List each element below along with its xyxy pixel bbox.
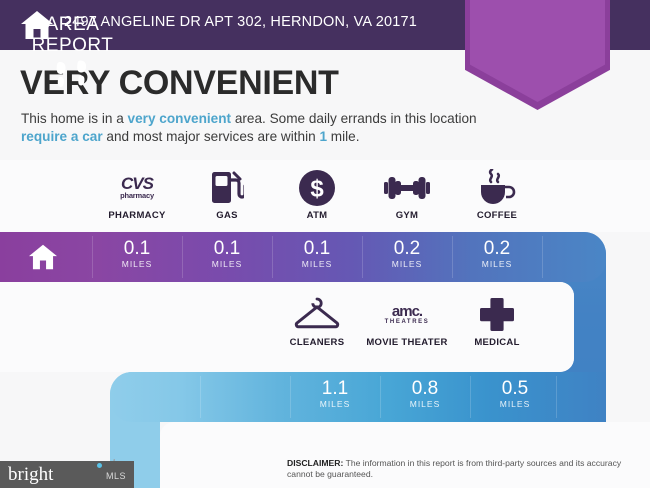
desc-highlight-distance: 1 — [319, 129, 327, 144]
category-gym: GYM — [362, 168, 452, 230]
category-coffee: COFFEE — [452, 168, 542, 230]
cvs-pharmacy-logo: CVS pharmacy — [92, 168, 182, 208]
badge-inner-fill — [470, 0, 605, 102]
description-text: This home is in a very convenient area. … — [21, 110, 481, 146]
category-label: PHARMACY — [92, 210, 182, 221]
value-unit: MILES — [272, 259, 362, 269]
distance-value-coffee: 0.2 MILES — [452, 232, 542, 282]
value-number: 1.1 — [290, 379, 380, 399]
bright-mls-dot-icon — [97, 463, 102, 468]
value-number: 0.2 — [452, 239, 542, 259]
category-pharmacy: CVS pharmacy PHARMACY — [92, 168, 182, 230]
value-unit: MILES — [362, 259, 452, 269]
value-number: 0.1 — [272, 239, 362, 259]
disclaimer-text: DISCLAIMER: The information in this repo… — [287, 458, 637, 480]
distance-value-atm: 0.1 MILES — [272, 232, 362, 282]
desc-highlight-transport: require a car — [21, 129, 103, 144]
badge-title-line1: AREA — [0, 14, 145, 35]
value-number: 0.1 — [92, 239, 182, 259]
category-label: ATM — [272, 210, 362, 221]
value-unit: MILES — [182, 259, 272, 269]
value-number: 0.5 — [470, 379, 560, 399]
desc-part1: This home is in a — [21, 111, 128, 126]
distance-value-medical: 0.5 MILES — [470, 372, 560, 422]
clothes-hanger-icon — [293, 295, 341, 335]
value-unit: MILES — [452, 259, 542, 269]
category-gas: GAS — [182, 168, 272, 230]
medical-cross-icon — [479, 297, 515, 333]
dollar-circle-icon: $ — [298, 169, 336, 207]
category-label: MOVIE THEATER — [362, 337, 452, 348]
category-movie-theater: amc. THEATRES MOVIE THEATER — [362, 295, 452, 357]
distance-value-movie-theater: 0.8 MILES — [380, 372, 470, 422]
category-medical: MEDICAL — [452, 295, 542, 357]
amc-theatres-logo: amc. THEATRES — [362, 295, 452, 335]
bright-mls-wordmark: bright — [8, 464, 53, 486]
distance-value-gym: 0.2 MILES — [362, 232, 452, 282]
value-unit: MILES — [92, 259, 182, 269]
value-number: 0.2 — [362, 239, 452, 259]
desc-highlight-convenience: very convenient — [128, 111, 232, 126]
footprints-icon — [52, 60, 94, 94]
category-label: MEDICAL — [452, 337, 542, 348]
gas-pump-icon — [210, 169, 244, 207]
dumbbell-icon — [384, 173, 430, 203]
bright-mls-suffix: MLS — [106, 471, 126, 481]
value-number: 0.1 — [182, 239, 272, 259]
distance-value-gas: 0.1 MILES — [182, 232, 272, 282]
distance-bar-row2: 1.1 MILES 0.8 MILES 0.5 MILES — [110, 372, 606, 422]
house-icon — [28, 243, 58, 271]
category-icons-row2: CLEANERS amc. THEATRES MOVIE THEATER MED… — [0, 295, 650, 357]
category-label: CLEANERS — [272, 337, 362, 348]
category-label: GAS — [182, 210, 272, 221]
value-unit: MILES — [290, 399, 380, 409]
area-report-infographic: 2497 ANGELINE DR APT 302, HERNDON, VA 20… — [0, 0, 650, 488]
distance-value-pharmacy: 0.1 MILES — [92, 232, 182, 282]
desc-part3: and most major services are within — [103, 129, 320, 144]
value-unit: MILES — [380, 399, 470, 409]
category-cleaners: CLEANERS — [272, 295, 362, 357]
area-report-badge — [465, 0, 610, 110]
value-number: 0.8 — [380, 379, 470, 399]
category-icons-row1: CVS pharmacy PHARMACY GAS $ — [0, 168, 650, 230]
distance-value-cleaners: 1.1 MILES — [290, 372, 380, 422]
desc-part4: mile. — [327, 129, 359, 144]
disclaimer-label: DISCLAIMER: — [287, 458, 343, 468]
coffee-cup-icon — [477, 169, 517, 207]
category-label: GYM — [362, 210, 452, 221]
category-label: COFFEE — [452, 210, 542, 221]
distance-bar-row1: 0.1 MILES 0.1 MILES 0.1 MILES 0.2 MILES … — [0, 232, 606, 282]
badge-title: AREA REPORT — [0, 14, 145, 56]
desc-part2: area. Some daily errands in this locatio… — [231, 111, 477, 126]
value-unit: MILES — [470, 399, 560, 409]
category-atm: $ ATM — [272, 168, 362, 230]
badge-title-line2: REPORT — [0, 35, 145, 56]
svg-text:$: $ — [310, 176, 324, 203]
